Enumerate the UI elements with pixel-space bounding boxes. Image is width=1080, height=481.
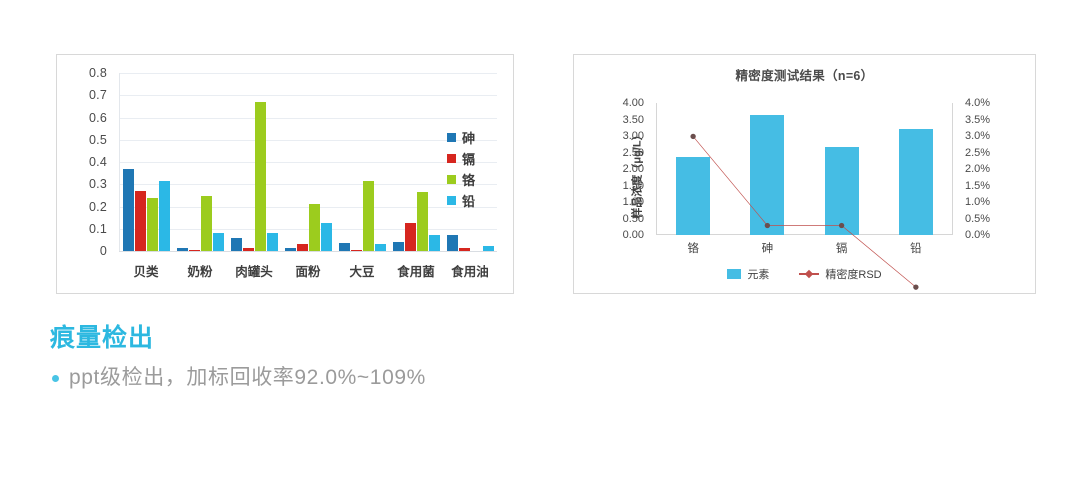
x-tick-label: 贝类 xyxy=(119,259,173,285)
legend-item-element[interactable]: 元素 xyxy=(727,266,769,282)
legend-item[interactable]: 铅 xyxy=(447,190,499,211)
recovery-bar-chart: 0.80.70.60.50.40.30.20.10 贝类奶粉肉罐头面粉大豆食用菌… xyxy=(56,54,514,294)
legend-line-swatch-icon xyxy=(799,269,819,279)
bar[interactable] xyxy=(213,233,224,251)
y-tick-label: 0 xyxy=(100,244,107,258)
y-tick-label: 0.3 xyxy=(89,177,107,191)
bar[interactable] xyxy=(201,196,212,251)
recovery-plot-area xyxy=(119,73,497,251)
x-tick-label: 食用油 xyxy=(443,259,497,285)
left-axis-tick-label: 2.00 xyxy=(623,163,644,175)
bar[interactable] xyxy=(159,181,170,251)
bar[interactable] xyxy=(321,223,332,251)
legend-label-element: 元素 xyxy=(747,266,769,282)
left-axis-tick-label: 1.50 xyxy=(623,180,644,192)
recovery-x-axis-labels: 贝类奶粉肉罐头面粉大豆食用菌食用油 xyxy=(119,259,497,285)
legend-item[interactable]: 砷 xyxy=(447,127,499,148)
rsd-data-point[interactable] xyxy=(690,134,695,139)
rsd-data-point[interactable] xyxy=(913,284,918,289)
precision-right-axis-labels: 4.0%3.5%3.0%2.5%2.0%1.5%1.0%0.5%0.0% xyxy=(957,103,1031,235)
left-caption-text: ppt级检出，加标回收率92.0%~109% xyxy=(69,362,426,394)
bar[interactable] xyxy=(339,243,350,251)
left-axis-tick-label: 4.00 xyxy=(623,97,644,109)
bar[interactable] xyxy=(135,191,146,251)
right-axis-tick-label: 3.5% xyxy=(965,114,990,126)
recovery-y-axis-labels: 0.80.70.60.50.40.30.20.10 xyxy=(65,73,113,251)
left-axis-tick-label: 2.50 xyxy=(623,147,644,159)
bar[interactable] xyxy=(459,248,470,251)
right-axis-tick-label: 3.0% xyxy=(965,130,990,142)
bar[interactable] xyxy=(255,102,266,251)
gridline xyxy=(119,251,497,252)
bar[interactable] xyxy=(417,192,428,251)
legend-label-rsd: 精密度RSD xyxy=(825,266,881,282)
left-axis-tick-label: 0.00 xyxy=(623,229,644,241)
x-tick-label: 铅 xyxy=(879,239,953,259)
recovery-bar-groups xyxy=(119,73,497,251)
left-axis-tick-label: 0.50 xyxy=(623,213,644,225)
bar[interactable] xyxy=(297,244,308,251)
bar-group xyxy=(173,73,227,251)
y-tick-label: 0.4 xyxy=(89,155,107,169)
bar[interactable] xyxy=(393,242,404,251)
x-tick-label: 砷 xyxy=(730,239,804,259)
y-tick-label: 0.1 xyxy=(89,222,107,236)
left-caption-row: ppt级检出，加标回收率92.0%~109% xyxy=(50,362,520,394)
y-tick-label: 0.5 xyxy=(89,133,107,147)
x-tick-label: 镉 xyxy=(805,239,879,259)
right-axis-tick-label: 4.0% xyxy=(965,97,990,109)
legend-item-rsd[interactable]: 精密度RSD xyxy=(799,266,881,282)
bar[interactable] xyxy=(447,235,458,251)
legend-swatch-icon xyxy=(447,175,456,184)
bar[interactable] xyxy=(231,238,242,251)
precision-plot-area xyxy=(656,103,953,235)
right-axis-tick-label: 0.5% xyxy=(965,213,990,225)
bar[interactable] xyxy=(285,248,296,251)
bar[interactable] xyxy=(267,233,278,251)
precision-chart-body: 精密度测试结果（n=6） 样品浓度（μg/L） 4.003.503.002.50… xyxy=(574,55,1035,293)
y-tick-label: 0.7 xyxy=(89,88,107,102)
right-axis-tick-label: 2.5% xyxy=(965,147,990,159)
legend-item[interactable]: 镉 xyxy=(447,148,499,169)
legend-swatch-icon xyxy=(447,154,456,163)
x-tick-label: 铬 xyxy=(656,239,730,259)
precision-x-axis-labels: 铬砷镉铅 xyxy=(656,239,953,259)
recovery-chart-body: 0.80.70.60.50.40.30.20.10 贝类奶粉肉罐头面粉大豆食用菌… xyxy=(57,55,513,293)
legend-label: 铅 xyxy=(462,191,475,210)
legend-label: 镉 xyxy=(462,149,475,168)
bar[interactable] xyxy=(405,223,416,251)
x-tick-label: 面粉 xyxy=(281,259,335,285)
y-tick-label: 0.8 xyxy=(89,66,107,80)
rsd-data-point[interactable] xyxy=(765,223,770,228)
bar[interactable] xyxy=(375,244,386,251)
y-tick-label: 0.2 xyxy=(89,200,107,214)
left-column: 0.80.70.60.50.40.30.20.10 贝类奶粉肉罐头面粉大豆食用菌… xyxy=(0,0,540,481)
left-axis-tick-label: 3.50 xyxy=(623,114,644,126)
right-axis-tick-label: 2.0% xyxy=(965,163,990,175)
rsd-data-point[interactable] xyxy=(839,223,844,228)
bar-group xyxy=(389,73,443,251)
recovery-legend[interactable]: 砷镉铬铅 xyxy=(447,127,499,211)
bullet-dot-icon xyxy=(52,375,59,382)
left-caption-heading: 痕量检出 xyxy=(50,322,520,354)
precision-left-axis-labels: 4.003.503.002.502.001.501.000.500.00 xyxy=(578,103,652,235)
precision-combo-chart: 精密度测试结果（n=6） 样品浓度（μg/L） 4.003.503.002.50… xyxy=(573,54,1036,294)
bar[interactable] xyxy=(243,248,254,251)
x-tick-label: 大豆 xyxy=(335,259,389,285)
bar[interactable] xyxy=(429,235,440,251)
right-column: 精密度测试结果（n=6） 样品浓度（μg/L） 4.003.503.002.50… xyxy=(540,0,1080,481)
legend-swatch-icon xyxy=(447,133,456,142)
bar-group xyxy=(281,73,335,251)
left-axis-tick-label: 1.00 xyxy=(623,196,644,208)
precision-legend[interactable]: 元素 精密度RSD xyxy=(574,263,1035,285)
left-axis-tick-label: 3.00 xyxy=(623,130,644,142)
bar[interactable] xyxy=(147,198,158,251)
bar-group xyxy=(227,73,281,251)
right-axis-tick-label: 1.5% xyxy=(965,180,990,192)
bar-group xyxy=(119,73,173,251)
right-axis-tick-label: 1.0% xyxy=(965,196,990,208)
bar[interactable] xyxy=(309,204,320,251)
bar[interactable] xyxy=(177,248,188,251)
legend-bar-swatch-icon xyxy=(727,269,741,279)
precision-chart-title: 精密度测试结果（n=6） xyxy=(574,65,1035,84)
y-tick-label: 0.6 xyxy=(89,111,107,125)
legend-swatch-icon xyxy=(447,196,456,205)
bar[interactable] xyxy=(363,181,374,251)
legend-label: 砷 xyxy=(462,128,475,147)
x-tick-label: 奶粉 xyxy=(173,259,227,285)
x-tick-label: 肉罐头 xyxy=(227,259,281,285)
x-tick-label: 食用菌 xyxy=(389,259,443,285)
bar[interactable] xyxy=(351,250,362,251)
bar[interactable] xyxy=(123,169,134,251)
bar[interactable] xyxy=(189,250,200,251)
slide-root: 0.80.70.60.50.40.30.20.10 贝类奶粉肉罐头面粉大豆食用菌… xyxy=(0,0,1080,481)
left-caption-block: 痕量检出 ppt级检出，加标回收率92.0%~109% xyxy=(50,322,520,394)
bar-group xyxy=(335,73,389,251)
legend-item[interactable]: 铬 xyxy=(447,169,499,190)
right-axis-tick-label: 0.0% xyxy=(965,229,990,241)
legend-label: 铬 xyxy=(462,170,475,189)
bar[interactable] xyxy=(483,246,494,251)
